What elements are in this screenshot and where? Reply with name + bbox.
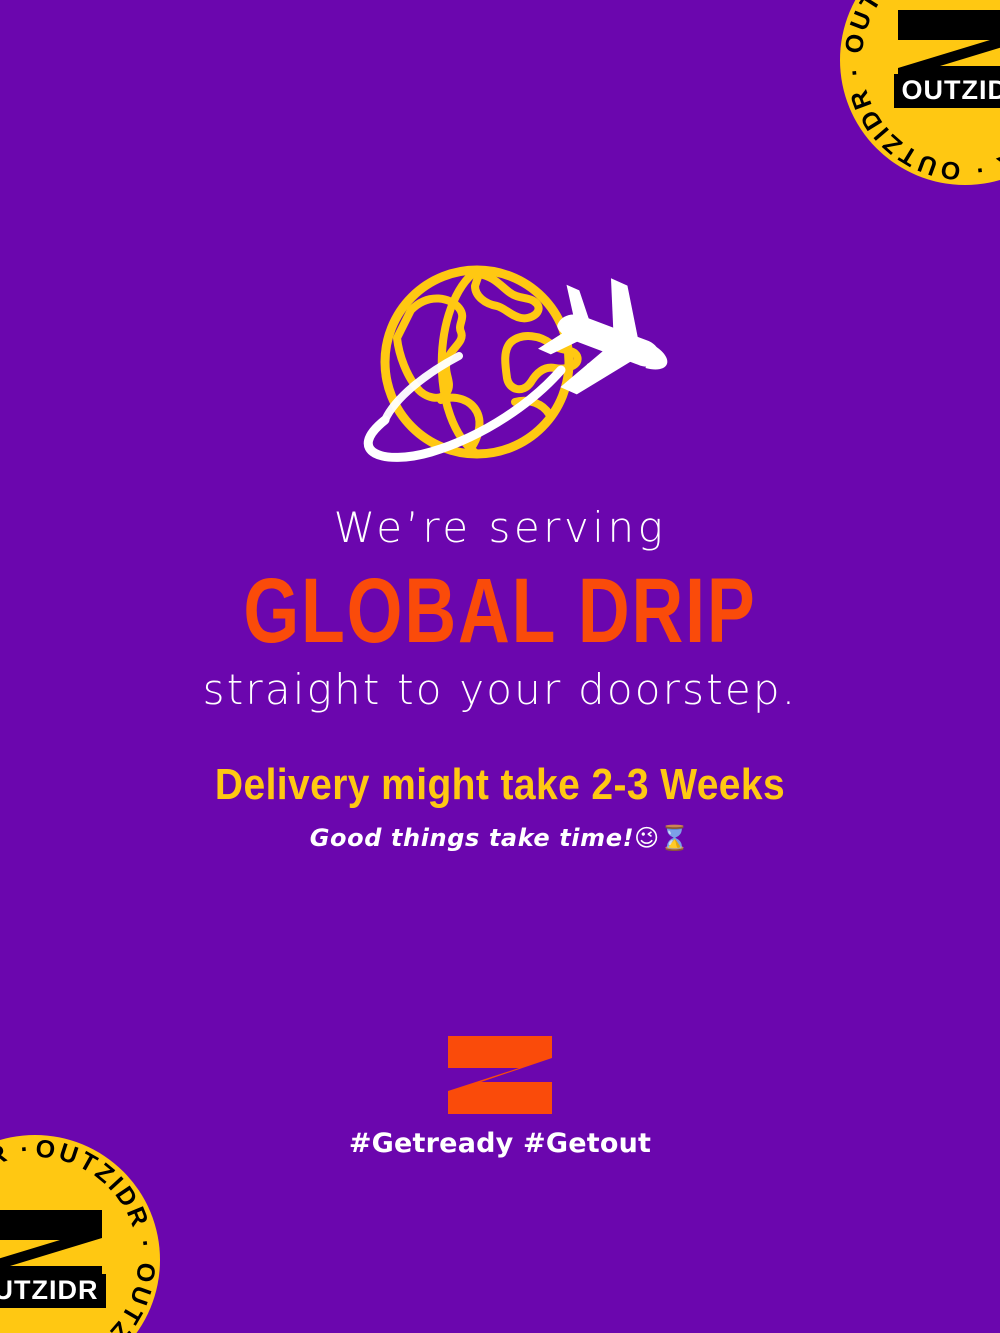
badge-center-mark: OUTZIDR	[890, 4, 1000, 116]
badge-center-mark: OUTZIDR	[0, 1204, 110, 1316]
delivery-caption: Good things take time!😉⌛	[0, 824, 1000, 852]
outzidr-z-logo	[448, 1036, 552, 1114]
outzidr-badge-top-right: OUTZIDR · OUTZIDR · OUTZIDR · OUTZIDR · …	[840, 0, 1000, 185]
promo-poster: OUTZIDR · OUTZIDR · OUTZIDR · OUTZIDR · …	[0, 0, 1000, 1333]
badge-center-wordmark: OUTZIDR	[902, 75, 1000, 105]
outzidr-badge-bottom-left: OUTZIDR · OUTZIDR · OUTZIDR · OUTZIDR · …	[0, 1135, 160, 1333]
badge-center-wordmark: OUTZIDR	[0, 1275, 98, 1305]
delivery-caption-emoji: 😉⌛	[634, 824, 690, 852]
headline-block: We’re serving GLOBAL DRIP straight to yo…	[0, 505, 1000, 712]
globe-with-airplane-icon	[325, 252, 675, 482]
delivery-notice-block: Delivery might take 2-3 Weeks Good thing…	[0, 762, 1000, 852]
headline-pretitle: We’re serving	[0, 505, 1000, 550]
headline-subtitle: straight to your doorstep.	[0, 668, 1000, 712]
headline-main-title: GLOBAL DRIP	[40, 564, 960, 656]
delivery-headline: Delivery might take 2-3 Weeks	[0, 762, 1000, 810]
delivery-caption-text: Good things take time!	[310, 824, 634, 852]
